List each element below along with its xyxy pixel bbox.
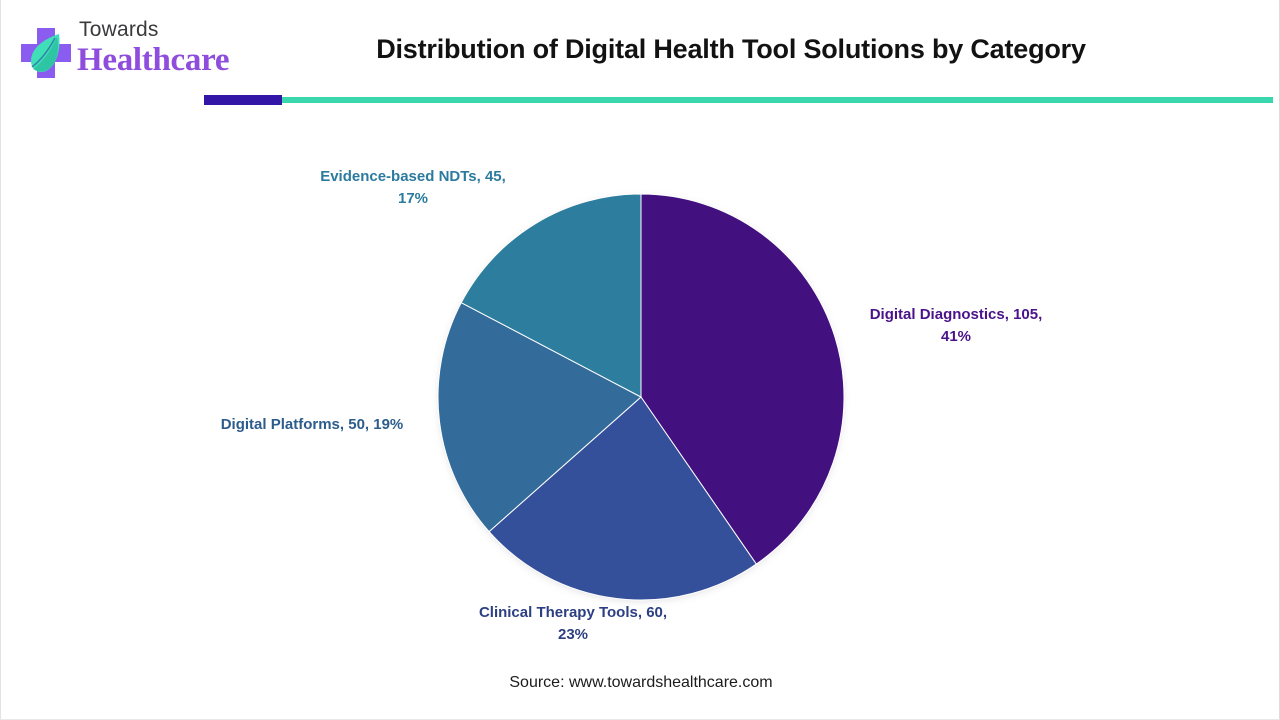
pie-label-digital-platforms: Digital Platforms, 50, 19% <box>183 414 441 436</box>
pie-chart <box>436 192 846 602</box>
pie-label-clinical-therapy-tools: Clinical Therapy Tools, 60, 23% <box>443 602 703 646</box>
pie-slice-group <box>438 194 844 600</box>
pie-label-digital-diagnostics: Digital Diagnostics, 105, 41% <box>839 304 1073 348</box>
source-note: Source: www.towardshealthcare.com <box>341 674 941 692</box>
divider-accent-bar <box>204 95 282 105</box>
slide-canvas: Towards Healthcare Distribution of Digit… <box>0 0 1280 720</box>
divider <box>204 95 1273 105</box>
divider-line <box>204 97 1273 103</box>
pie-label-evidence-based-ndts: Evidence-based NDTs, 45, 17% <box>284 166 542 210</box>
page-title: Distribution of Digital Health Tool Solu… <box>201 34 1261 65</box>
cross-leaf-logo-icon <box>15 22 77 84</box>
